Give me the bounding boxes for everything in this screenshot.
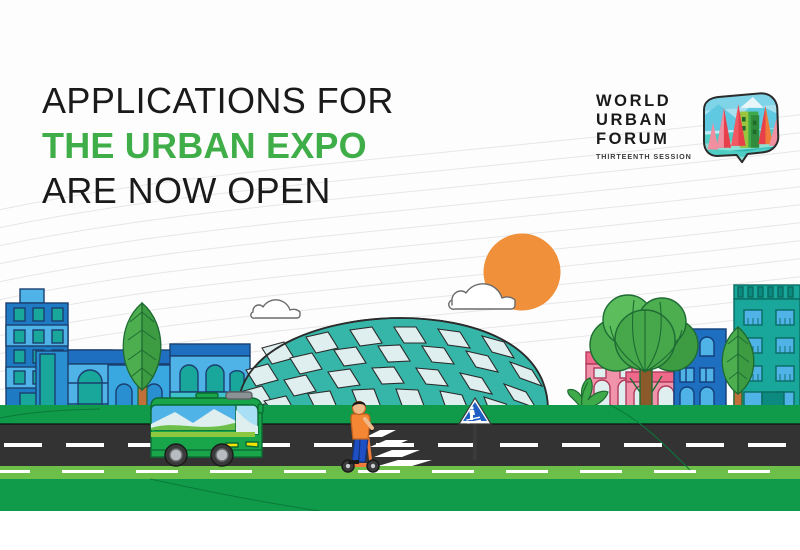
wuf-logo-wordmark: WORLD URBAN FORUM THIRTEENTH SESSION [596, 92, 692, 161]
headline-line-1: APPLICATIONS FOR [42, 78, 462, 123]
arena-stadium [238, 318, 548, 417]
logo-word-world: WORLD [596, 92, 671, 111]
logo-word-forum: FORUM [596, 130, 670, 149]
logo-word-urban: URBAN [596, 111, 669, 130]
promo-banner: APPLICATIONS FOR THE URBAN EXPO ARE NOW … [0, 0, 800, 550]
headline-line-3: ARE NOW OPEN [42, 168, 462, 213]
wuf-logo[interactable]: WORLD URBAN FORUM THIRTEENTH SESSION [596, 88, 784, 164]
headline: APPLICATIONS FOR THE URBAN EXPO ARE NOW … [42, 78, 462, 213]
wuf-cube-emblem [700, 88, 784, 164]
city-bus [151, 392, 263, 466]
grass-band-bottom [0, 479, 800, 511]
headline-line-2: THE URBAN EXPO [42, 123, 462, 168]
footer-white [0, 511, 800, 550]
logo-subtitle: THIRTEENTH SESSION [596, 152, 692, 161]
cloud-left [251, 300, 300, 318]
grass-band-top [0, 405, 800, 425]
